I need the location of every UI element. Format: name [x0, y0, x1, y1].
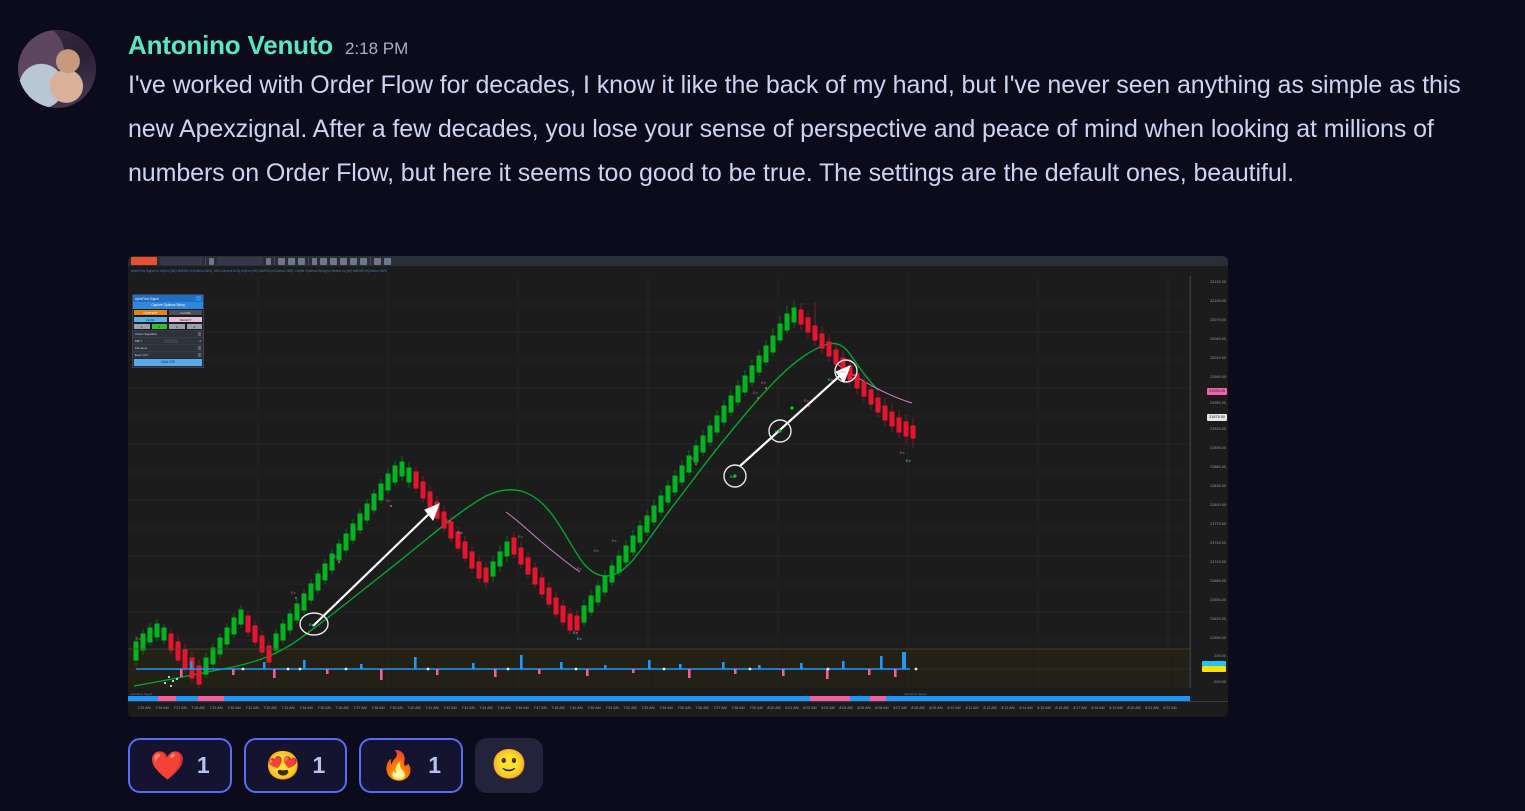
toolbar-divider-2	[274, 257, 275, 265]
smiling-face-with-hearts-emoji-icon: 😍	[266, 752, 301, 780]
tradingview-logo-icon	[131, 257, 157, 265]
reaction-count: 1	[197, 752, 210, 779]
svg-text:En: En	[841, 369, 846, 374]
symbol-selector[interactable]	[160, 257, 202, 265]
time-tick: 8:06 AM	[875, 706, 888, 710]
time-tick: 8:13 AM	[1001, 706, 1014, 710]
time-tick: 7:41 AM	[425, 706, 438, 710]
svg-text:Ex: Ex	[334, 554, 339, 559]
time-tick: 7:42 AM	[443, 706, 456, 710]
add-reaction-button[interactable]: 🙂	[475, 738, 543, 793]
time-tick: 7:57 AM	[713, 706, 726, 710]
panel-option-check-signalbar[interactable]: Check Signalbar	[133, 330, 203, 337]
time-tick: 8:11 AM	[966, 706, 979, 710]
time-tick: 7:43 AM	[461, 706, 474, 710]
chart-attachment[interactable]: ApexFlow Signal by mQLcx (NQ MAR26 (m)Zd…	[128, 256, 1228, 717]
time-tick: 7:26 AM	[155, 706, 168, 710]
svg-text:Ex: Ex	[900, 450, 905, 455]
price-tick: 22040.00	[1210, 337, 1226, 342]
panel-button-level[interactable]: LEVEL	[133, 316, 168, 323]
chart-toolbar	[128, 256, 1228, 267]
time-tick: 8:07 AM	[893, 706, 906, 710]
apexflow-signal-panel[interactable]: ApexFlow Signal Capture Optimus String C…	[132, 294, 204, 368]
svg-text:Ex: Ex	[691, 456, 696, 461]
panel-button-close[interactable]: CLOSE	[168, 309, 203, 316]
price-tick: 21650.00	[1210, 598, 1226, 603]
reaction-smiling-face-with-hearts[interactable]: 😍 1	[244, 738, 348, 793]
time-tick: 7:36 AM	[335, 706, 348, 710]
time-tick: 8:05 AM	[857, 706, 870, 710]
price-tick: 21980.00	[1210, 375, 1226, 380]
time-tick: 7:28 AM	[191, 706, 204, 710]
time-tick: 7:46 AM	[515, 706, 528, 710]
chat-message-screen: Antonino Venuto 2:18 PM I've worked with…	[0, 0, 1525, 811]
chart-canvas[interactable]: ← ApexFlow Signal Capture Optimus String…	[128, 276, 1228, 717]
message-author[interactable]: Antonino Venuto	[128, 30, 333, 61]
undo-icon[interactable]	[350, 258, 357, 265]
chart-plot: En En En En En En Ex Ex Ex Ex Ex	[128, 276, 1228, 717]
panel-subtitle: Capture Optimus String	[133, 302, 203, 309]
time-tick: 7:38 AM	[371, 706, 384, 710]
redo-icon[interactable]	[360, 258, 367, 265]
time-tick: 7:45 AM	[497, 706, 510, 710]
analyze-button[interactable]: ANALYZE	[134, 359, 202, 366]
svg-text:Ex: Ex	[446, 518, 451, 523]
checkbox-icon[interactable]	[198, 332, 202, 336]
toolbar-divider	[205, 257, 206, 265]
time-tick: 7:54 AM	[659, 706, 672, 710]
price-tick: 21920.00	[1210, 427, 1226, 432]
add-indicator-icon[interactable]	[312, 258, 317, 265]
svg-text:Ex: Ex	[577, 566, 582, 571]
time-tick: 7:44 AM	[479, 706, 492, 710]
chevron-down-icon-2[interactable]	[266, 258, 271, 265]
panel-title: ApexFlow Signal	[135, 297, 159, 301]
avatar-image	[18, 30, 96, 108]
panel-option-exec[interactable]: Exec CFT	[133, 351, 203, 358]
time-tick: 8:08 AM	[911, 706, 924, 710]
checkbox-icon-2[interactable]	[198, 346, 202, 350]
time-tick: 7:52 AM	[623, 706, 636, 710]
add-reaction-icon: 🙂	[491, 751, 527, 780]
svg-text:Ex: Ex	[458, 530, 463, 535]
time-tick: 7:53 AM	[641, 706, 654, 710]
trendline-icon[interactable]	[288, 258, 295, 265]
last-price-label: 21875.50	[1207, 414, 1227, 421]
svg-text:Ex: Ex	[753, 390, 758, 395]
panel-buttons-row-3: 1 2 3 4	[133, 323, 203, 330]
avatar[interactable]	[18, 30, 96, 108]
candlestick-type-icon[interactable]	[278, 258, 285, 265]
panel-option-1-label: Check Signalbar	[135, 332, 157, 336]
price-tick: 21590.00	[1210, 636, 1226, 641]
time-tick: 8:16 AM	[1055, 706, 1068, 710]
time-tick: 7:39 AM	[389, 706, 402, 710]
price-axis[interactable]: 22130.00 22100.00 22070.00 22040.00 2201…	[1190, 276, 1228, 688]
price-tick: 21830.00	[1210, 484, 1226, 489]
time-tick: 8:00 AM	[767, 706, 780, 710]
time-tick: 7:50 AM	[587, 706, 600, 710]
price-tick: 21620.00	[1210, 617, 1226, 622]
alert-icon[interactable]	[330, 258, 337, 265]
magnifier-icon[interactable]	[298, 258, 305, 265]
time-tick: 8:15 AM	[1037, 706, 1050, 710]
time-tick: 7:58 AM	[731, 706, 744, 710]
reaction-fire[interactable]: 🔥 1	[359, 738, 463, 793]
price-subtick: 200.00	[1214, 654, 1226, 659]
svg-text:Ex: Ex	[291, 590, 296, 595]
panel-option-3-label: Filename	[135, 346, 147, 350]
time-tick: 7:34 AM	[299, 706, 312, 710]
svg-text:Ex: Ex	[136, 636, 141, 641]
time-tick: 7:55 AM	[677, 706, 690, 710]
time-tick: 8:19 AM	[1109, 706, 1122, 710]
message-header: Antonino Venuto 2:18 PM	[128, 30, 1508, 61]
interval-selector[interactable]	[217, 257, 263, 265]
reaction-heart[interactable]: ❤️ 1	[128, 738, 232, 793]
time-tick: 8:10 AM	[947, 706, 960, 710]
toolbar-divider-4	[370, 257, 371, 265]
settings-icon[interactable]	[374, 258, 381, 265]
price-tick: 21950.00	[1210, 401, 1226, 406]
svg-text:Ex: Ex	[612, 538, 617, 543]
time-tick: 7:40 AM	[407, 706, 420, 710]
price-tick: 22130.00	[1210, 280, 1226, 285]
time-tick: 8:21 AM	[1145, 706, 1158, 710]
time-tick: 8:17 AM	[1073, 706, 1086, 710]
fullscreen-icon[interactable]	[384, 258, 391, 265]
time-tick: 8:12 AM	[983, 706, 996, 710]
message-timestamp: 2:18 PM	[345, 39, 408, 59]
message-text: I've worked with Order Flow for decades,…	[128, 63, 1493, 195]
price-tick: 21800.00	[1210, 503, 1226, 508]
time-tick: 7:27 AM	[173, 706, 186, 710]
time-tick: 8:18 AM	[1091, 706, 1104, 710]
heart-emoji-icon: ❤️	[150, 752, 185, 780]
message-body: Antonino Venuto 2:18 PM I've worked with…	[128, 30, 1508, 195]
price-tick: 21890.00	[1210, 446, 1226, 451]
time-tick: 8:04 AM	[839, 706, 852, 710]
time-tick: 7:48 AM	[551, 706, 564, 710]
panel-option-4-label: Exec CFT	[135, 353, 148, 357]
chevron-down-icon[interactable]	[209, 258, 214, 265]
panel-preset-1[interactable]: 1	[133, 323, 151, 330]
svg-text:Ex: Ex	[386, 498, 391, 503]
pin-icon[interactable]	[196, 296, 201, 301]
panel-option-2-value: 2	[199, 339, 201, 343]
panel-titlebar[interactable]: ApexFlow Signal	[133, 295, 203, 302]
time-tick: 8:09 AM	[929, 706, 942, 710]
time-tick: 7:25 AM	[137, 706, 150, 710]
svg-text:Ex: Ex	[761, 380, 766, 385]
time-tick: 7:56 AM	[695, 706, 708, 710]
dropdown-icon[interactable]	[164, 339, 178, 343]
panel-preset-4[interactable]: 4	[186, 323, 204, 330]
time-tick: 8:01 AM	[785, 706, 798, 710]
svg-text:Ex: Ex	[594, 548, 599, 553]
time-tick: 7:51 AM	[605, 706, 618, 710]
time-tick: 7:59 AM	[749, 706, 762, 710]
panel-preset-2[interactable]: 2	[151, 323, 169, 330]
layout-icon[interactable]	[320, 258, 327, 265]
toolbar-divider-3	[308, 257, 309, 265]
panel-button-select[interactable]: SELECT	[168, 316, 203, 323]
reaction-count: 1	[428, 752, 441, 779]
price-tick: 22010.00	[1210, 356, 1226, 361]
svg-text:En: En	[573, 630, 578, 635]
panel-option-mbt[interactable]: MB T 2	[133, 337, 203, 344]
time-tick: 7:33 AM	[281, 706, 294, 710]
price-subtick: -200.00	[1213, 680, 1226, 685]
time-tick: 7:31 AM	[245, 706, 258, 710]
time-tick: 7:35 AM	[317, 706, 330, 710]
chat-message: Antonino Venuto 2:18 PM I've worked with…	[0, 0, 1525, 195]
panel-buttons-row-1: CONTEXT CLOSE	[133, 309, 203, 316]
svg-text:En: En	[309, 622, 314, 627]
time-tick: 8:22 AM	[1163, 706, 1176, 710]
price-tick: 21860.00	[1210, 465, 1226, 470]
time-axis[interactable]: 7:25 AM 7:26 AM 7:27 AM 7:28 AM 7:29 AM …	[128, 701, 1228, 717]
time-tick: 8:03 AM	[821, 706, 834, 710]
time-tick: 8:02 AM	[803, 706, 816, 710]
reaction-bar: ❤️ 1 😍 1 🔥 1 🙂	[128, 738, 543, 793]
price-tick: 21740.00	[1210, 541, 1226, 546]
time-tick: 8:20 AM	[1127, 706, 1140, 710]
svg-text:Ex: Ex	[577, 636, 582, 641]
panel-option-2-label: MB T	[135, 339, 142, 343]
fire-emoji-icon: 🔥	[381, 752, 416, 780]
current-price-label: 21934.25	[1207, 388, 1227, 395]
svg-text:En: En	[828, 377, 833, 382]
svg-text:Ex: Ex	[906, 458, 911, 463]
time-tick: 7:32 AM	[263, 706, 276, 710]
time-tick: 7:29 AM	[209, 706, 222, 710]
reaction-count: 1	[313, 752, 326, 779]
price-tick: 21770.00	[1210, 522, 1226, 527]
price-tick: 21710.00	[1210, 560, 1226, 565]
panel-button-context[interactable]: CONTEXT	[133, 309, 168, 316]
time-tick: 7:47 AM	[533, 706, 546, 710]
price-tick: 22100.00	[1210, 299, 1226, 304]
price-tick: 21680.00	[1210, 579, 1226, 584]
replay-icon[interactable]	[340, 258, 347, 265]
svg-text:Ex: Ex	[804, 398, 809, 403]
indicator-value-box-bottom	[1202, 666, 1226, 672]
panel-option-filename[interactable]: Filename	[133, 344, 203, 351]
time-tick: 7:30 AM	[227, 706, 240, 710]
svg-text:Ex: Ex	[518, 534, 523, 539]
time-tick: 7:37 AM	[353, 706, 366, 710]
panel-preset-3[interactable]: 3	[168, 323, 186, 330]
panel-buttons-row-2: LEVEL SELECT	[133, 316, 203, 323]
price-tick: 22070.00	[1210, 318, 1226, 323]
time-tick: 7:49 AM	[569, 706, 582, 710]
checkbox-icon-3[interactable]	[198, 353, 202, 357]
time-tick: 8:14 AM	[1019, 706, 1032, 710]
chart-status-line: ApexFlow Signal by mQLcx (NQ MAR26 (m)Zd…	[128, 267, 1228, 276]
